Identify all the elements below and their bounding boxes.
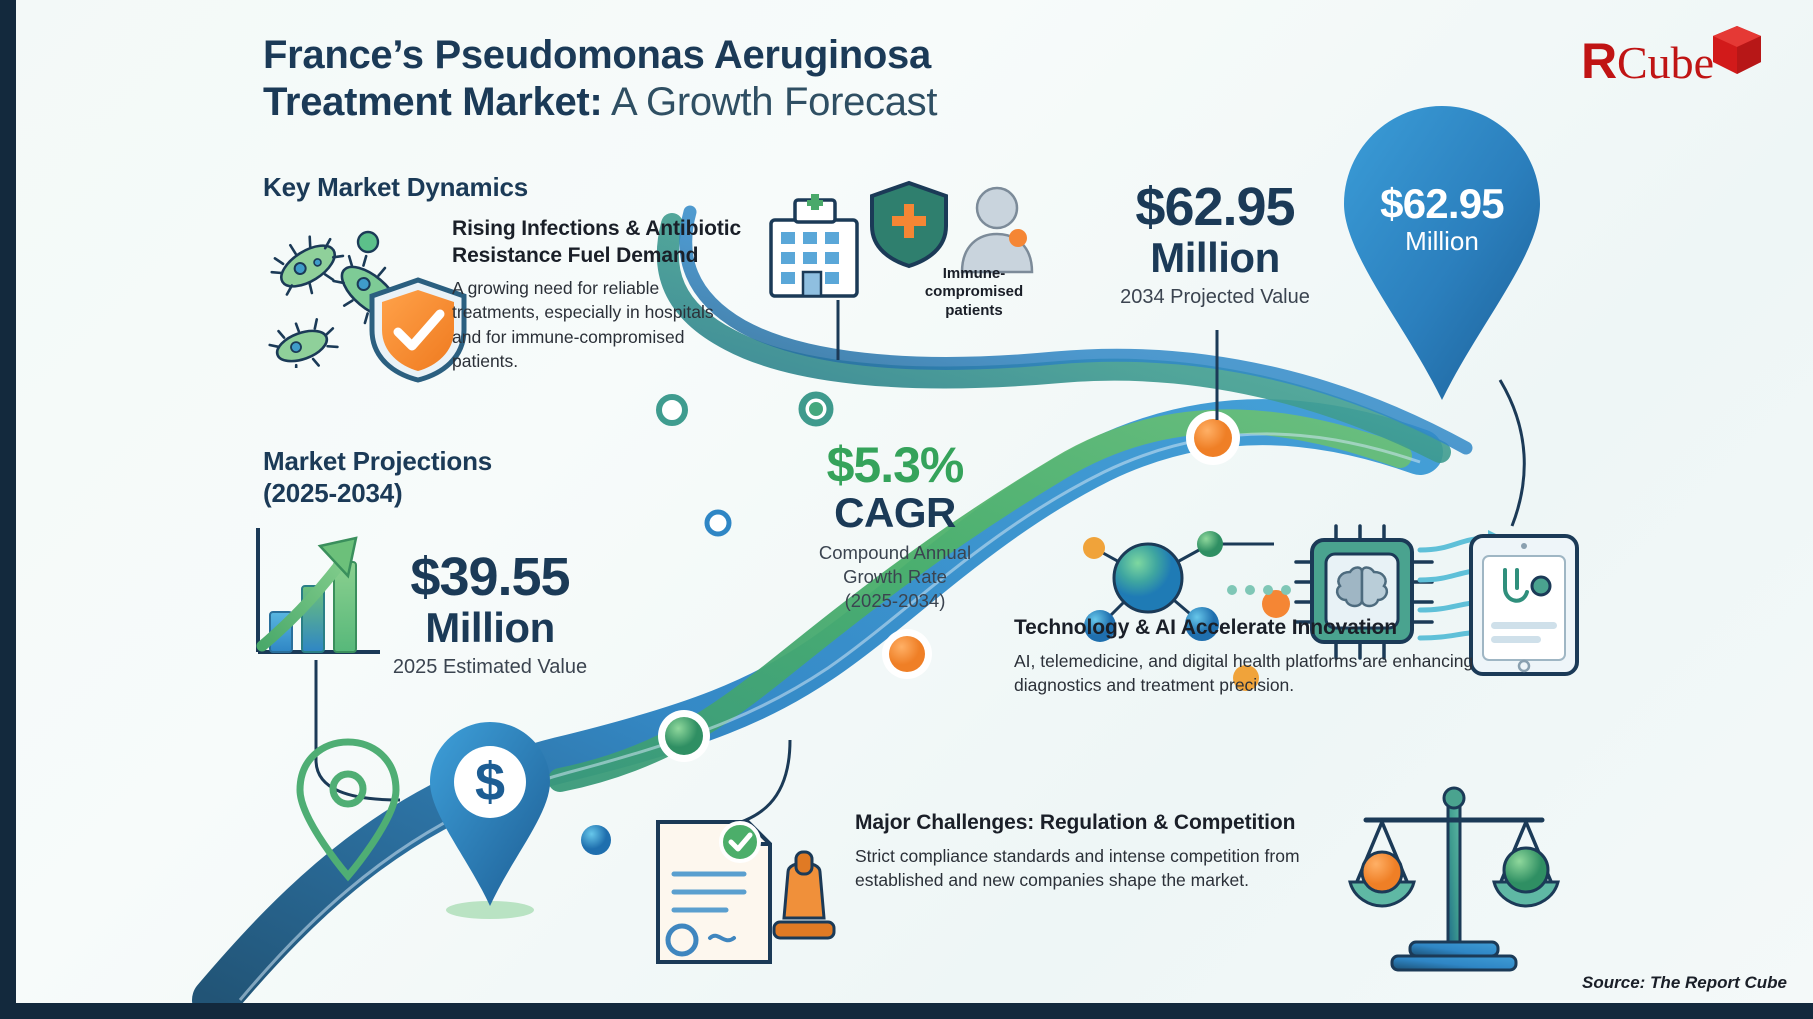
page-title: France’s Pseudomonas Aeruginosa Treatmen… (263, 32, 1223, 126)
pin-text-group: $62.95 Million (1336, 182, 1548, 257)
logo-wordmark: ЯCube (1581, 32, 1714, 90)
stat-2034-projected: $62.95 Million 2034 Projected Value (1100, 180, 1330, 310)
logo-cube-word: Cube (1617, 37, 1714, 88)
block-rising-infections: Rising Infections & Antibiotic Resistanc… (452, 216, 742, 373)
block-technology-body: AI, telemedicine, and digital health pla… (1014, 649, 1514, 697)
patient-icon (952, 180, 1042, 276)
cagr-sub-line-3: (2025-2034) (790, 589, 1000, 613)
source-attribution: Source: The Report Cube (1582, 973, 1787, 993)
document-stamp-icon (640, 812, 840, 972)
block-major-challenges: Major Challenges: Regulation & Competiti… (855, 810, 1315, 892)
block-rising-heading: Rising Infections & Antibiotic Resistanc… (452, 216, 742, 269)
title-line-2: Treatment Market: A Growth Forecast (263, 79, 1223, 126)
red-cube-icon (1709, 22, 1765, 78)
stat-2025-estimated: $39.55 Million 2025 Estimated Value (360, 550, 620, 680)
frame-left-band (0, 0, 16, 1019)
map-pin-icon: $62.95 Million (1336, 104, 1548, 404)
cagr-sub-line-2: Growth Rate (790, 565, 1000, 589)
block-challenges-heading: Major Challenges: Regulation & Competiti… (855, 810, 1315, 837)
frame-bottom-band (0, 1003, 1813, 1019)
market-projections-line-2: (2025-2034) (263, 478, 583, 510)
title-line-2-bold: Treatment Market: (263, 80, 602, 124)
cagr-value: $5.3% (790, 440, 1000, 490)
scales-balance-icon (1340, 780, 1570, 980)
stat-2034-unit: Million (1100, 235, 1330, 281)
block-challenges-body: Strict compliance standards and intense … (855, 844, 1315, 892)
stat-2025-caption: 2025 Estimated Value (360, 655, 620, 680)
block-rising-body: A growing need for reliable treatments, … (452, 276, 742, 373)
immune-compromised-label: Immune-compromised patients (915, 265, 1033, 320)
dollar-map-pin-icon: $ (424, 720, 556, 920)
cagr-sub-line-1: Compound Annual (790, 541, 1000, 565)
title-line-2-light: A Growth Forecast (602, 80, 937, 124)
cagr-label: CAGR (790, 490, 1000, 536)
stat-2034-caption: 2034 Projected Value (1100, 285, 1330, 310)
stat-2034-value: $62.95 (1100, 180, 1330, 235)
medical-shield-icon (866, 178, 952, 270)
cagr-stat: $5.3% CAGR Compound Annual Growth Rate (… (790, 440, 1000, 612)
stat-2025-value: $39.55 (360, 550, 620, 605)
stat-2025-unit: Million (360, 605, 620, 651)
block-technology-ai: Technology & AI Accelerate Innovation AI… (1014, 615, 1514, 697)
pin-value: $62.95 (1336, 182, 1548, 226)
pin-unit: Million (1336, 226, 1548, 257)
market-projections-line-1: Market Projections (263, 446, 583, 478)
svg-text:$: $ (475, 752, 505, 812)
cagr-sublabel: Compound Annual Growth Rate (2025-2034) (790, 541, 1000, 612)
section-heading-key-market-dynamics: Key Market Dynamics (263, 172, 528, 204)
block-technology-heading: Technology & AI Accelerate Innovation (1014, 615, 1514, 642)
brand-logo[interactable]: ЯCube (1581, 16, 1771, 96)
infographic-canvas: France’s Pseudomonas Aeruginosa Treatmen… (0, 0, 1813, 1019)
section-heading-market-projections: Market Projections (2025-2034) (263, 446, 583, 509)
logo-reversed-r-icon: Я (1581, 32, 1617, 90)
title-line-1: France’s Pseudomonas Aeruginosa (263, 32, 1223, 79)
